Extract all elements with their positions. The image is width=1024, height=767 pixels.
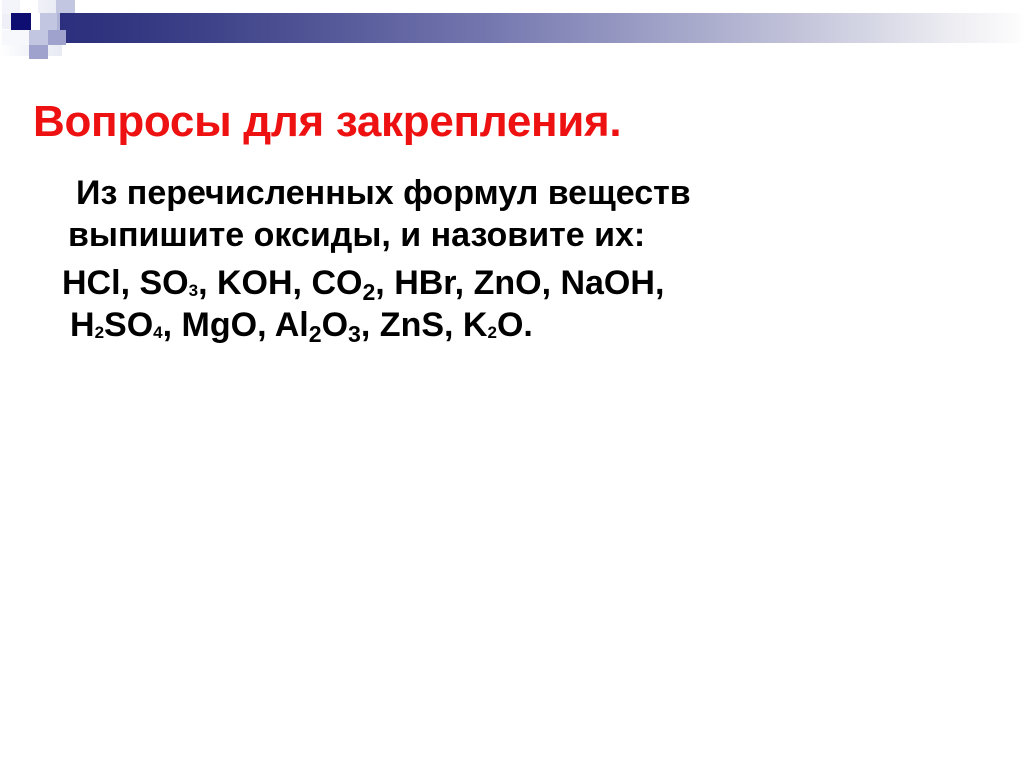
formula-subscript: 4 bbox=[153, 323, 162, 342]
question-prose-line-1: Из перечисленных формул веществ bbox=[62, 176, 962, 210]
question-prose: Из перечисленных формул веществ выпишите… bbox=[62, 176, 962, 252]
formula-separator: , bbox=[444, 306, 463, 344]
formula-separator: , bbox=[375, 264, 394, 302]
question-prose-line-2: выпишите оксиды, и назовите их: bbox=[62, 218, 962, 252]
chemical-formula: MgO bbox=[182, 306, 258, 344]
formula-separator: , bbox=[198, 264, 217, 302]
deco-square-lavender-low-1 bbox=[29, 30, 48, 45]
formula-line-1: HCl, SO3, KOH, CO2, HBr, ZnO, NaOH, bbox=[62, 266, 962, 300]
formula-separator: , bbox=[257, 306, 275, 344]
deco-square-lavender-mid-1 bbox=[40, 13, 57, 30]
chemical-formula: Al2O3 bbox=[275, 306, 361, 344]
header-gradient-bar bbox=[60, 13, 1024, 43]
slide-title: Вопросы для закрепления. bbox=[33, 98, 621, 146]
chemical-formula: ZnS bbox=[380, 306, 444, 344]
deco-square-lavender-low-2 bbox=[48, 30, 66, 45]
formula-separator: , bbox=[455, 264, 474, 302]
deco-square-white-gap bbox=[31, 13, 40, 30]
formula-separator: , bbox=[542, 264, 561, 302]
formula-separator: . bbox=[523, 306, 532, 344]
formula-subscript: 2 bbox=[95, 323, 104, 342]
chemical-formula: HCl bbox=[62, 264, 121, 302]
chemical-formula: SO3 bbox=[139, 264, 198, 302]
deco-square-pale-1 bbox=[2, 0, 20, 14]
chemical-formula: ZnO bbox=[474, 264, 542, 302]
formula-separator: , bbox=[163, 306, 182, 344]
deco-square-pale-4 bbox=[2, 30, 29, 45]
deco-square-pale-3 bbox=[2, 14, 11, 29]
chemical-formula: CO2 bbox=[311, 264, 375, 302]
formula-separator: , bbox=[361, 306, 380, 344]
slide-body: Из перечисленных формул веществ выпишите… bbox=[62, 176, 962, 342]
formula-subscript: 2 bbox=[487, 323, 496, 342]
chemical-formula: K2O bbox=[463, 306, 523, 344]
chemical-formula: KOH bbox=[217, 264, 293, 302]
formula-subscript: 2 bbox=[362, 279, 375, 305]
chemical-formula: HBr bbox=[394, 264, 454, 302]
formula-line-2: H2SO4, MgO, Al2O3, ZnS, K2O. bbox=[62, 308, 962, 342]
chemical-formula: H2SO4 bbox=[70, 306, 163, 344]
formula-separator: , bbox=[655, 264, 664, 302]
deco-square-navy-accent bbox=[11, 13, 31, 30]
formula-subscript: 3 bbox=[189, 281, 198, 300]
chemical-formula: NaOH bbox=[560, 264, 654, 302]
formula-separator: , bbox=[293, 264, 312, 302]
formula-subscript: 3 bbox=[348, 321, 361, 347]
formula-list: HCl, SO3, KOH, CO2, HBr, ZnO, NaOH, H2SO… bbox=[62, 266, 962, 342]
formula-separator: , bbox=[121, 264, 140, 302]
deco-square-lavender-bottom bbox=[29, 45, 48, 59]
deco-square-pale-2 bbox=[20, 0, 38, 14]
formula-subscript: 2 bbox=[309, 321, 322, 347]
deco-square-lavender-top bbox=[56, 0, 75, 13]
slide-header-decoration bbox=[0, 0, 1024, 60]
